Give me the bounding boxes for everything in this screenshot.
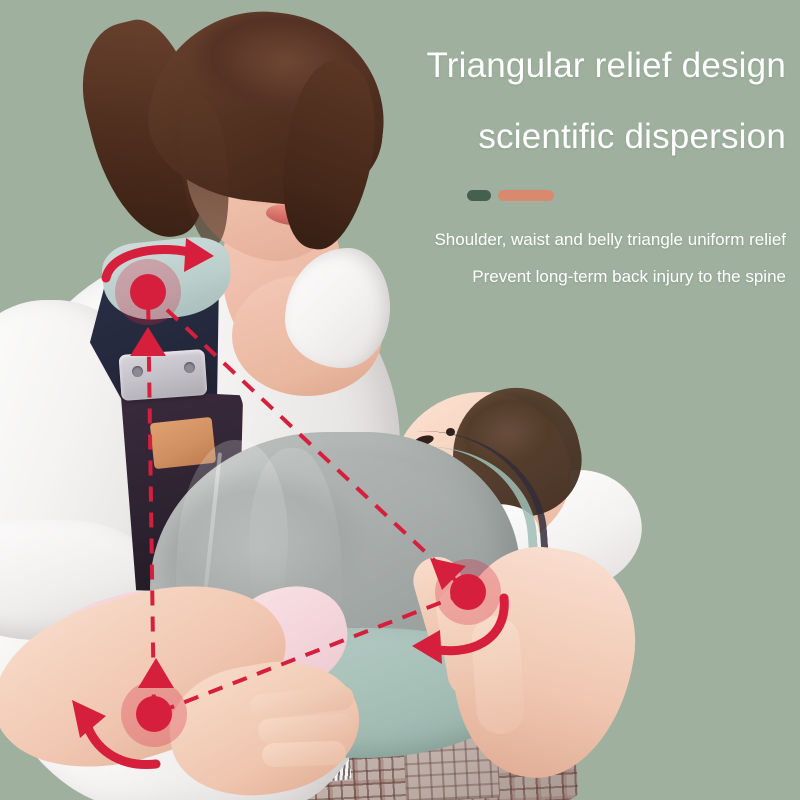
headline-line-2: scientific dispersion [386,119,786,154]
subline-2: Prevent long-term back injury to the spi… [386,268,786,286]
decorative-divider [386,190,634,201]
buckle-hole-left [132,366,143,377]
buckle-hole-right [184,362,195,373]
marketing-text-panel: Triangular relief design scientific disp… [386,48,786,286]
divider-dot-pill [467,190,491,201]
finger-r-3 [470,614,526,735]
subline-1: Shoulder, waist and belly triangle unifo… [386,231,786,249]
carrier-buckle [119,349,208,401]
finger-3 [262,741,347,768]
headline-line-1: Triangular relief design [386,48,786,83]
product-banner: Triangular relief design scientific disp… [0,0,800,800]
divider-bar-pill [498,190,554,201]
